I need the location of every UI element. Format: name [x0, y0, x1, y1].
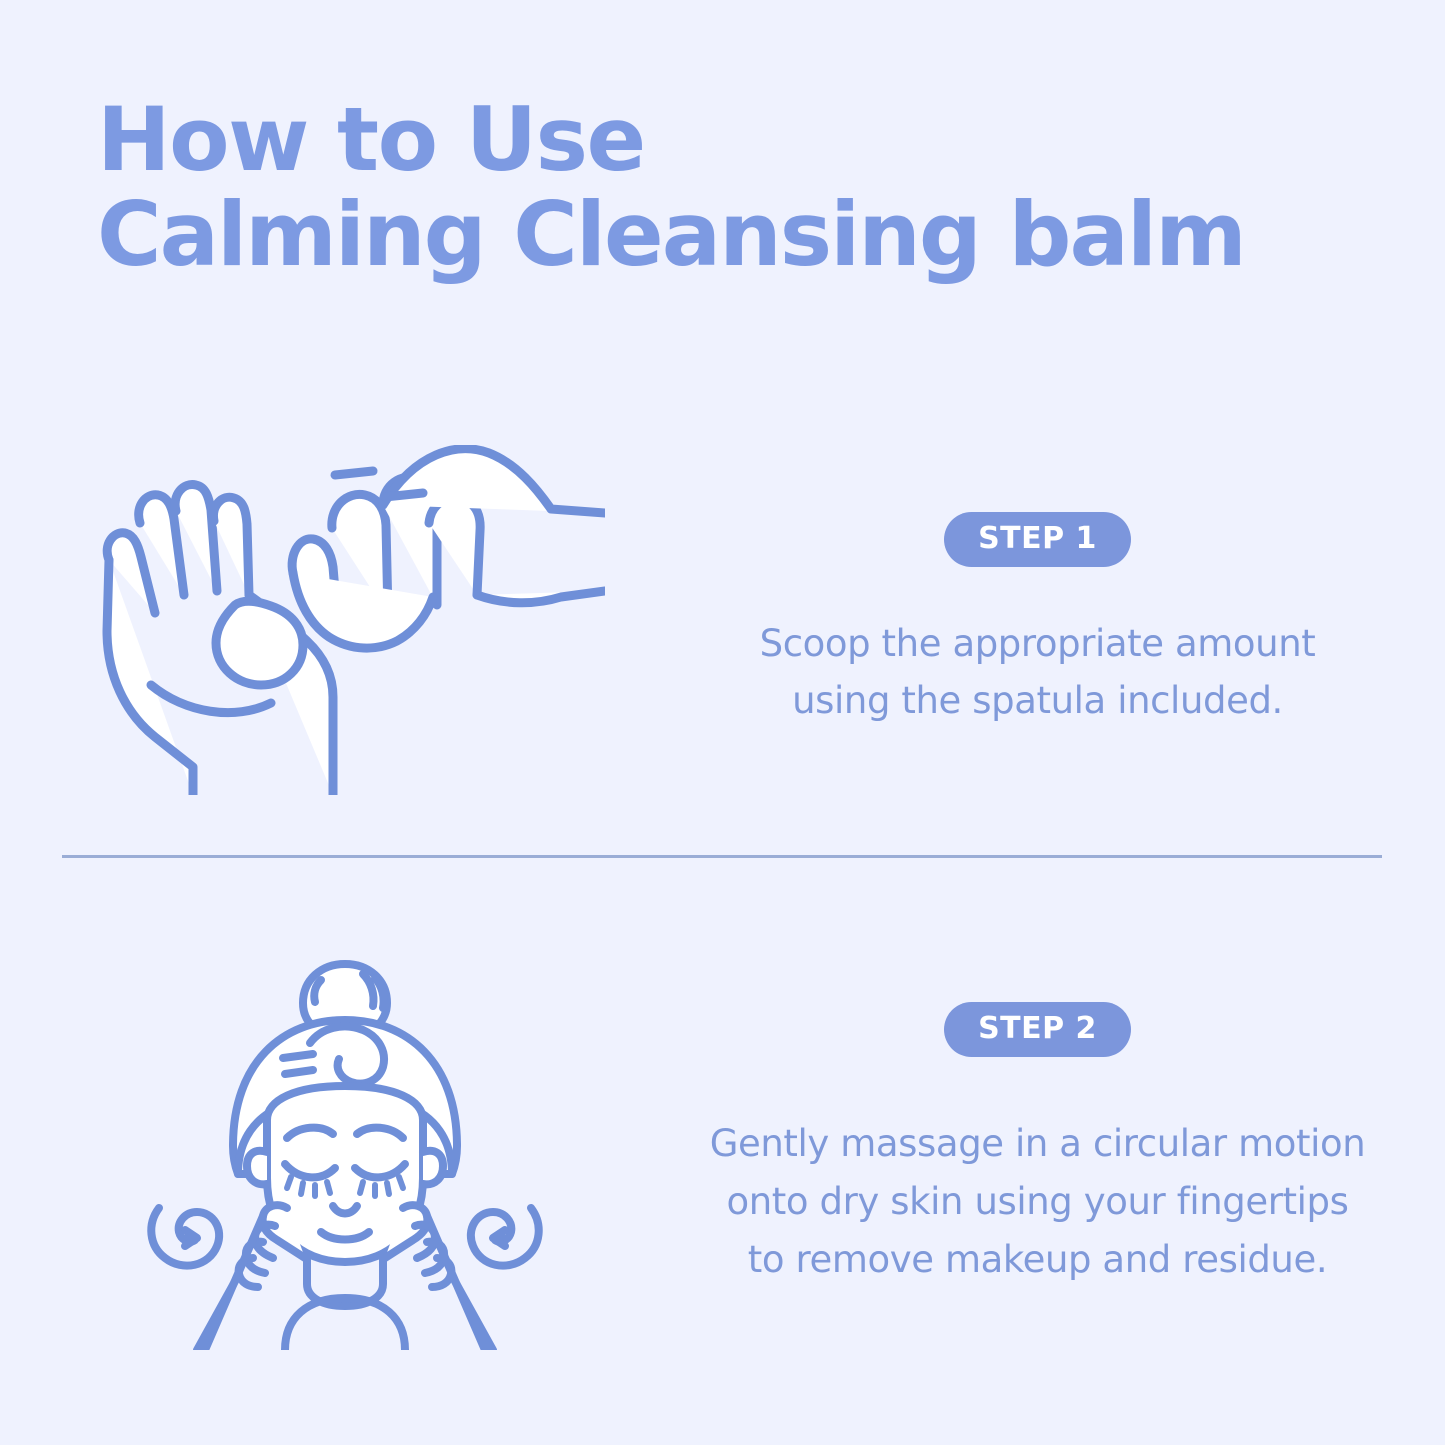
step-2-description-line-2: onto dry skin using your fingertips — [710, 1173, 1366, 1231]
step-section-1: STEP 1 Scoop the appropriate amount usin… — [0, 430, 1445, 810]
step-2-illustration-container — [0, 940, 690, 1350]
step-2-description: Gently massage in a circular motion onto… — [710, 1115, 1366, 1289]
step-1-description-line-2: using the spatula included. — [760, 672, 1316, 729]
hands-scooping-balm-icon — [85, 445, 605, 795]
woman-massaging-face-icon — [135, 940, 555, 1350]
step-1-illustration-container — [0, 445, 690, 795]
step-2-text-container: STEP 2 Gently massage in a circular moti… — [690, 1002, 1445, 1289]
step-2-description-line-3: to remove makeup and residue. — [710, 1231, 1366, 1289]
page-title-line-2: Calming Cleansing balm — [97, 187, 1217, 282]
page-title: How to Use Calming Cleansing balm — [97, 92, 1217, 282]
step-section-2: STEP 2 Gently massage in a circular moti… — [0, 930, 1445, 1360]
step-1-description-line-1: Scoop the appropriate amount — [760, 615, 1316, 672]
how-to-use-infographic: How to Use Calming Cleansing balm — [0, 0, 1445, 1445]
step-1-badge: STEP 1 — [944, 512, 1131, 567]
page-title-line-1: How to Use — [97, 92, 1217, 187]
step-1-description: Scoop the appropriate amount using the s… — [760, 615, 1316, 729]
step-1-text-container: STEP 1 Scoop the appropriate amount usin… — [690, 512, 1445, 729]
step-2-description-line-1: Gently massage in a circular motion — [710, 1115, 1366, 1173]
section-divider — [62, 855, 1382, 858]
step-2-badge: STEP 2 — [944, 1002, 1131, 1057]
